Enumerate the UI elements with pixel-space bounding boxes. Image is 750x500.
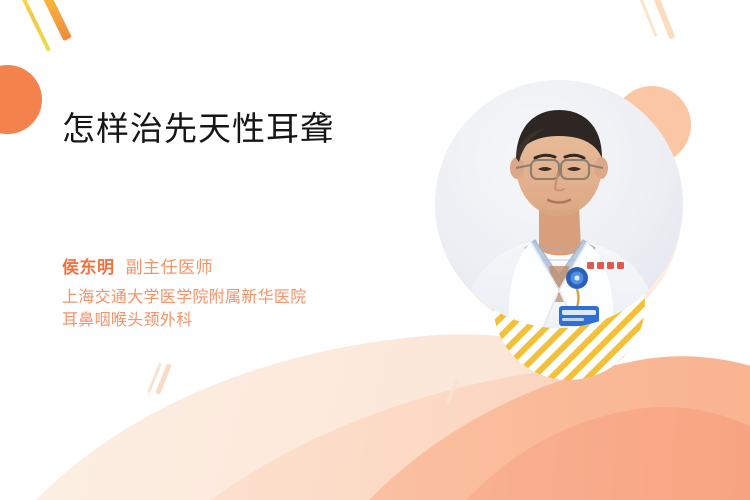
diagonal-stripe-bottom-right-thin	[446, 379, 459, 404]
doctor-portrait	[435, 80, 683, 328]
diagonal-stripe-top-right-thick	[653, 0, 676, 39]
diagonal-stripe-top-right-thin	[637, 0, 657, 37]
department-name: 耳鼻咽喉头颈外科	[62, 310, 422, 333]
poster-text-block: 怎样治先天性耳聋 侯东明 副主任医师 上海交通大学医学院附属新华医院 耳鼻咽喉头…	[62, 108, 422, 333]
diagonal-stripe-bottom-left-thick	[155, 363, 172, 395]
poster-canvas: 怎样治先天性耳聋 侯东明 副主任医师 上海交通大学医学院附属新华医院 耳鼻咽喉头…	[0, 0, 750, 500]
page-title: 怎样治先天性耳聋	[62, 108, 422, 149]
diagonal-stripe-bottom-left-thin	[147, 363, 162, 394]
diagonal-stripe-top-left-thin	[21, 0, 51, 52]
orange-circle-decoration	[0, 65, 42, 134]
doctor-name-row: 侯东明 副主任医师	[62, 253, 422, 278]
wave-shape-deep	[327, 380, 750, 500]
diagonal-stripe-top-left-thick	[39, 0, 72, 41]
doctor-rank: 副主任医师	[126, 253, 214, 278]
doctor-photo-cluster	[415, 68, 705, 368]
doctor-affiliation: 上海交通大学医学院附属新华医院 耳鼻咽喉头颈外科	[62, 287, 422, 332]
doctor-credit-block: 侯东明 副主任医师 上海交通大学医学院附属新华医院 耳鼻咽喉头颈外科	[62, 253, 422, 332]
doctor-name: 侯东明	[62, 253, 115, 278]
hospital-name: 上海交通大学医学院附属新华医院	[62, 287, 422, 310]
